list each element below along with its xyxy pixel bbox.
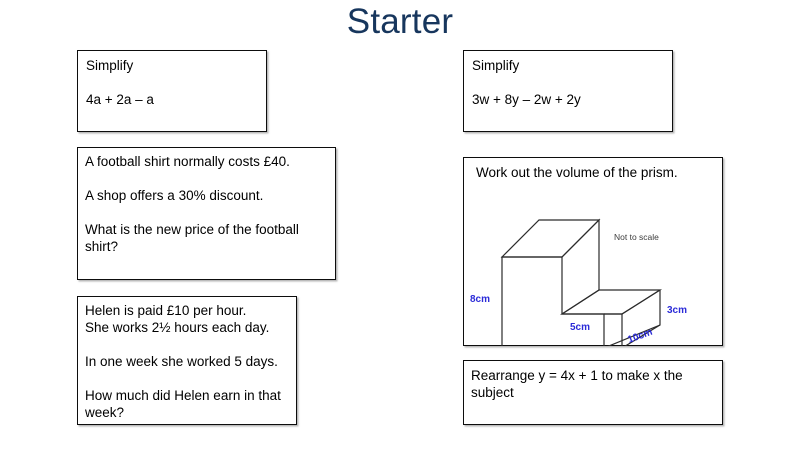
prism-dim-step-depth: 5cm [570, 322, 590, 333]
page-title: Starter [0, 2, 800, 42]
prism-note-label: Not to scale [614, 232, 659, 242]
prism-dim-height-left: 8cm [470, 294, 490, 305]
question-box-prism-volume[interactable]: Work out the volume of the prism. Not to [463, 157, 723, 346]
question-box-football-discount[interactable]: A football shirt normally costs £40. A s… [77, 147, 336, 280]
prism-dim-depth: 10cm [626, 327, 654, 346]
slide-canvas: Starter Simplify 4a + 2a – a A football … [0, 0, 800, 450]
prism-diagram: Not to scale 8cm 5cm 3cm 10cm 9cm [464, 180, 724, 346]
prism-question-text: Work out the volume of the prism. [476, 164, 678, 181]
question-box-simplify-2[interactable]: Simplify 3w + 8y – 2w + 2y [463, 50, 673, 132]
question-text-simplify-2: Simplify 3w + 8y – 2w + 2y [472, 57, 581, 108]
prism-dim-height-right: 3cm [667, 305, 687, 316]
question-box-rearrange[interactable]: Rearrange y = 4x + 1 to make x the subje… [463, 360, 723, 425]
question-text-rearrange: Rearrange y = 4x + 1 to make x the subje… [471, 367, 717, 401]
question-box-helen-wages[interactable]: Helen is paid £10 per hour. She works 2½… [77, 296, 297, 425]
question-text-helen-wages: Helen is paid £10 per hour. She works 2½… [85, 302, 296, 421]
question-box-simplify-1[interactable]: Simplify 4a + 2a – a [77, 50, 267, 132]
question-text-simplify-1: Simplify 4a + 2a – a [86, 57, 154, 108]
question-text-football-discount: A football shirt normally costs £40. A s… [85, 153, 335, 255]
